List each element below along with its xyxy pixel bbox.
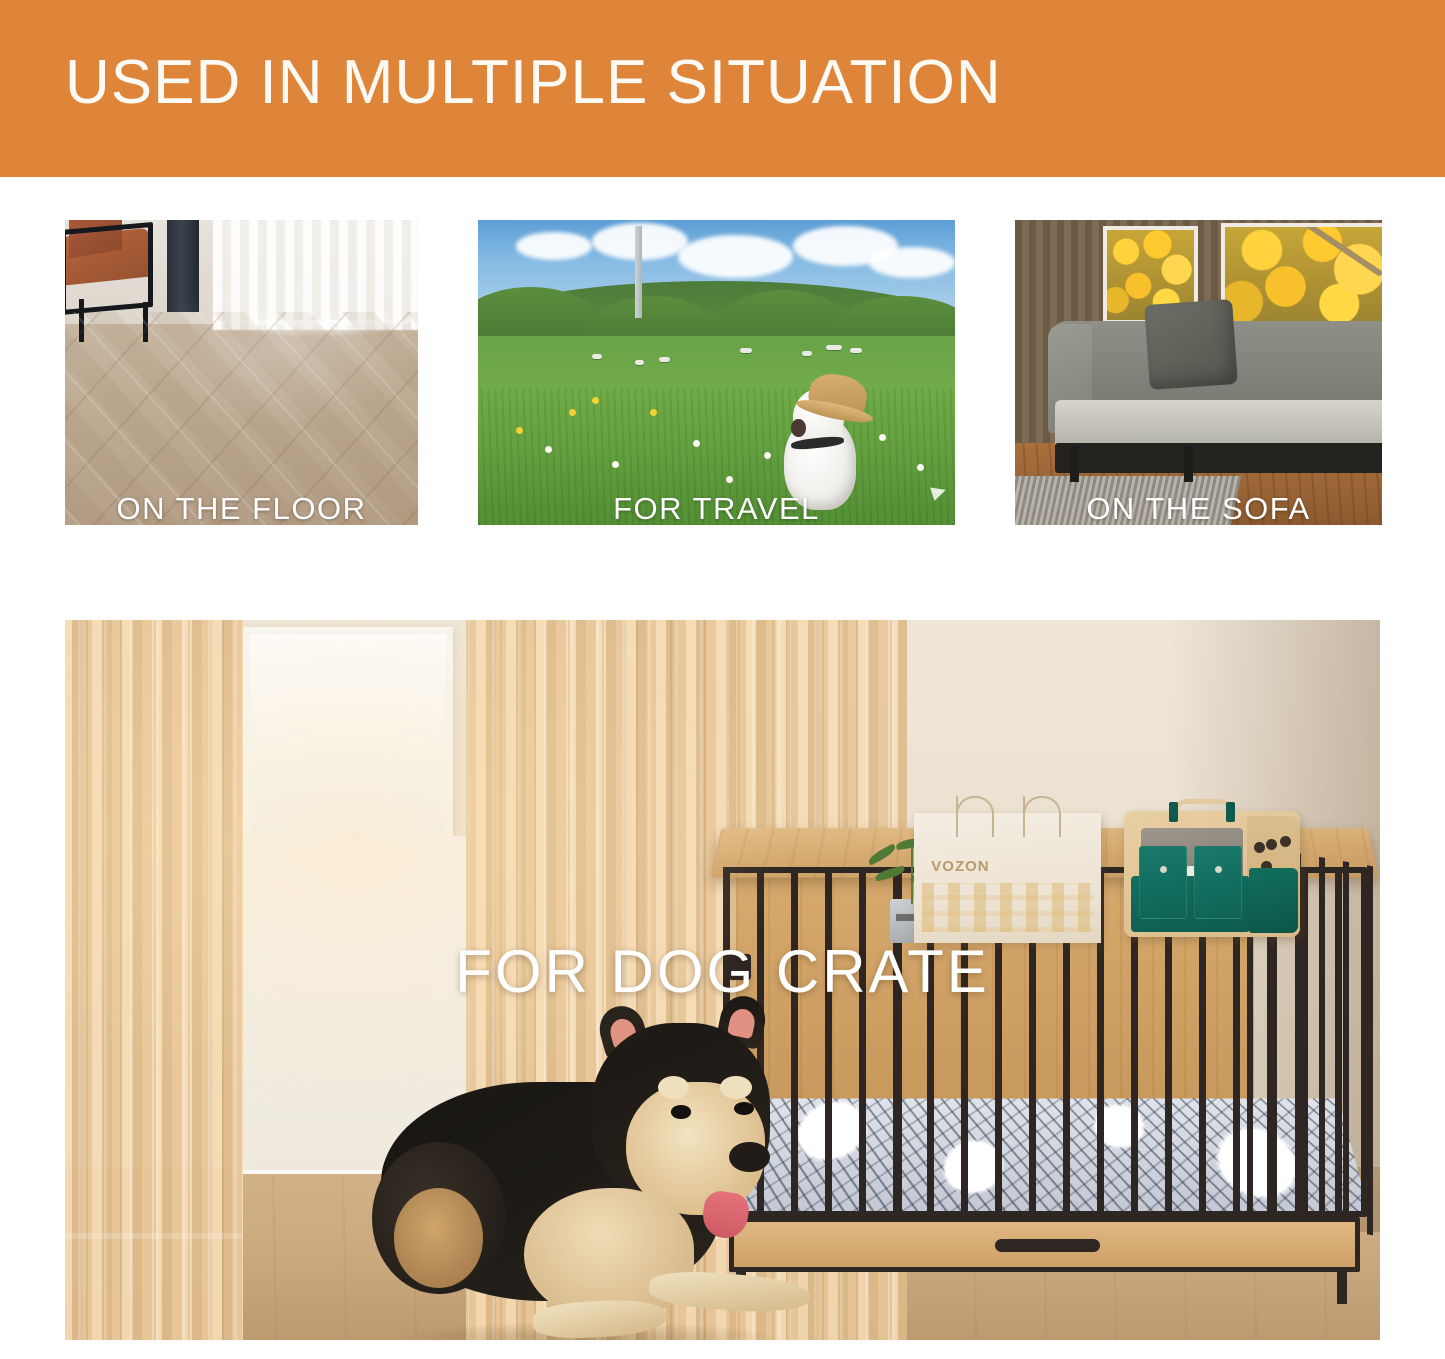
carrier-strap [1169,802,1178,822]
flower [693,440,700,447]
scene-card-for-travel: FOR TRAVEL [478,220,955,525]
sheep [826,345,842,350]
dog-nose [729,1142,769,1172]
ventilation-hole [1254,842,1265,853]
flower [612,461,619,468]
sofa-scene-illustration [1015,220,1382,525]
carrier-strap [1226,802,1235,822]
dog-brow-left [658,1076,689,1099]
sofa-seat-cushion [1055,400,1382,449]
hero-scene-for-dog-crate: VOZON FOR [65,620,1380,1340]
flower [879,434,886,441]
window [243,627,453,843]
header-banner: USED IN MULTIPLE SITUATION [0,0,1445,177]
sheer-curtain-left [65,620,243,1340]
sheep [592,354,602,359]
curtain-folds [65,620,243,1340]
autumn-foliage [1225,227,1382,323]
flower [545,446,552,453]
plant-stem [911,843,913,903]
scene-caption: ON THE SOFA [1015,491,1382,525]
carrier-side-green-panel [1249,868,1298,934]
dog-brow-right [720,1076,751,1099]
cloud [678,235,792,278]
sofa-leg [1070,446,1079,483]
window-right [1221,223,1382,327]
floor-scene-illustration [65,220,418,525]
scene-card-on-the-floor: ON THE FLOOR [65,220,418,525]
sheep [802,351,812,356]
sheep [659,357,670,362]
sheep [740,348,752,353]
flower [764,452,771,459]
gift-bag-pattern [922,883,1094,932]
bag-handle [1023,796,1025,835]
scene-caption: ON THE FLOOR [65,491,418,525]
light-glare [65,220,418,525]
sofa-base [1055,443,1382,474]
carrier-pocket-right [1194,846,1242,919]
tower [635,226,641,318]
crate-door-latch-icon[interactable] [729,954,751,980]
sofa-leg [1184,446,1193,483]
plant-leaf [867,843,898,865]
sheep [850,348,862,353]
pet-carrier-backpack [1124,811,1300,937]
dog-rear-leg-tan [394,1188,483,1287]
scene-card-on-the-sofa: ON THE SOFA [1015,220,1382,525]
flower [650,409,657,416]
dog-snout [791,419,806,437]
cloud [869,247,955,278]
throw-pillow [1144,299,1238,390]
travel-scene-illustration [478,220,955,525]
dog-eye-left [671,1105,691,1118]
cloud [516,232,592,259]
crate-foot [1337,1272,1347,1304]
ventilation-hole [1280,836,1291,847]
gift-bag-brand-label: VOZON [931,858,989,875]
flower [569,409,576,416]
gift-paper-bag: VOZON [914,813,1101,943]
ventilation-hole [1266,839,1277,850]
scene-caption: FOR TRAVEL [478,491,955,525]
carrier-top-handle [1173,799,1233,815]
bag-handle [956,796,958,835]
straw-hat [806,370,871,422]
tray-handle-icon[interactable] [995,1239,1101,1252]
page-title: USED IN MULTIPLE SITUATION [65,50,1002,115]
carrier-pocket-left [1139,846,1187,919]
flower [917,464,924,471]
dog-front-paw-right [648,1269,811,1317]
dog-in-straw-hat [779,373,870,510]
plant-leaf [875,866,906,882]
curtain-hem [65,1233,243,1239]
alaskan-malamute-dog [381,1016,828,1340]
